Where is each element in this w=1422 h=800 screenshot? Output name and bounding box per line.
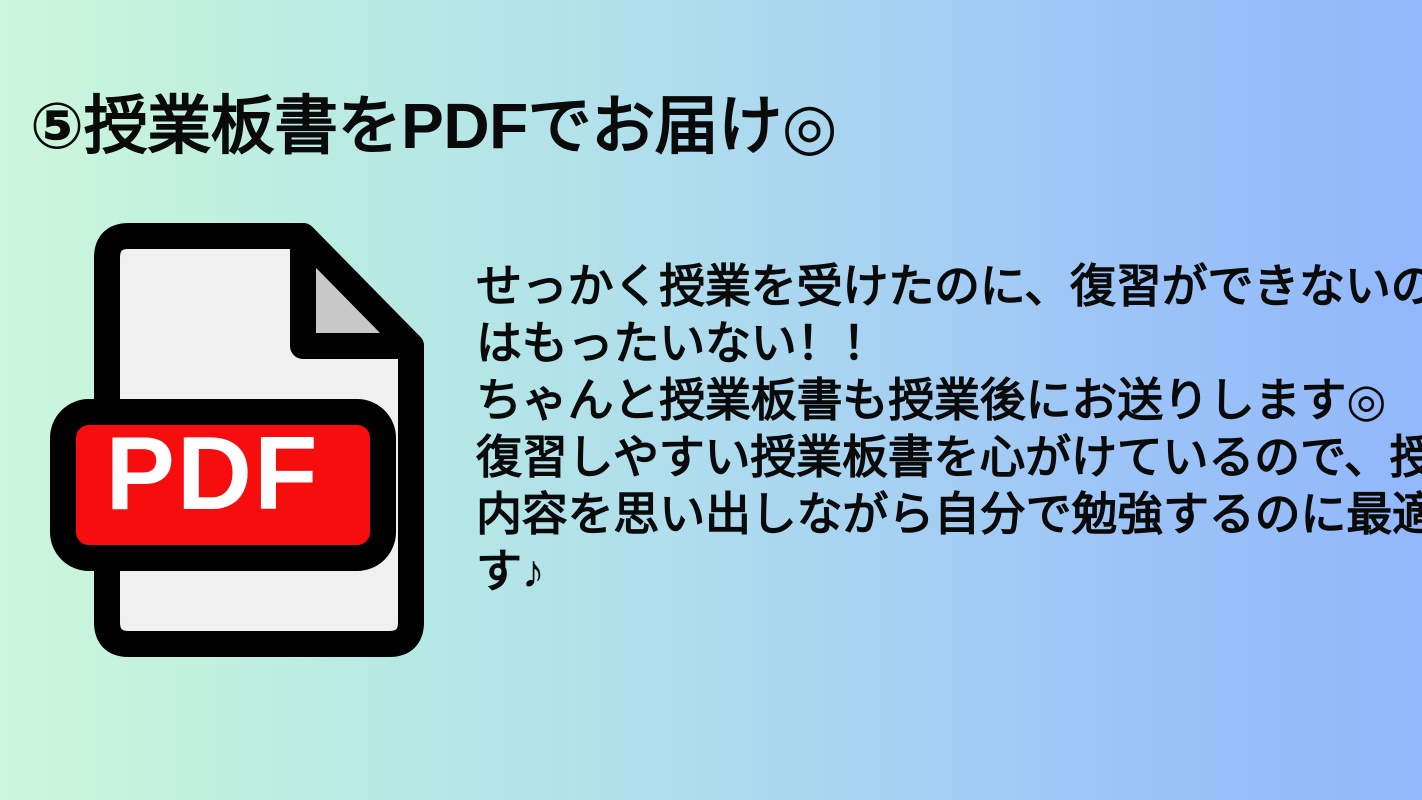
body-line: 復習しやすい授業板書を心がけているので、授業 bbox=[476, 429, 1406, 486]
page-title: ⑤授業板書をPDFでお届け◎ bbox=[30, 80, 1390, 172]
body-line: 内容を思い出しながら自分で勉強するのに最適で bbox=[476, 486, 1406, 543]
body-text-block: せっかく授業を受けたのに、復習ができないので はもったいない！！ ちゃんと授業板… bbox=[476, 258, 1406, 600]
body-line: す♪ bbox=[476, 543, 1406, 600]
body-line: せっかく授業を受けたのに、復習ができないので bbox=[476, 258, 1406, 315]
pdf-banner bbox=[63, 412, 383, 558]
body-line: はもったいない！！ bbox=[476, 315, 1406, 372]
slide-canvas: ⑤授業板書をPDFでお届け◎ PDF せっかく授業を受けたのに、復習ができないの… bbox=[0, 0, 1422, 800]
document-fold-corner bbox=[303, 236, 411, 346]
pdf-file-icon bbox=[45, 222, 425, 666]
body-line: ちゃんと授業板書も授業後にお送りします◎ bbox=[476, 372, 1406, 429]
